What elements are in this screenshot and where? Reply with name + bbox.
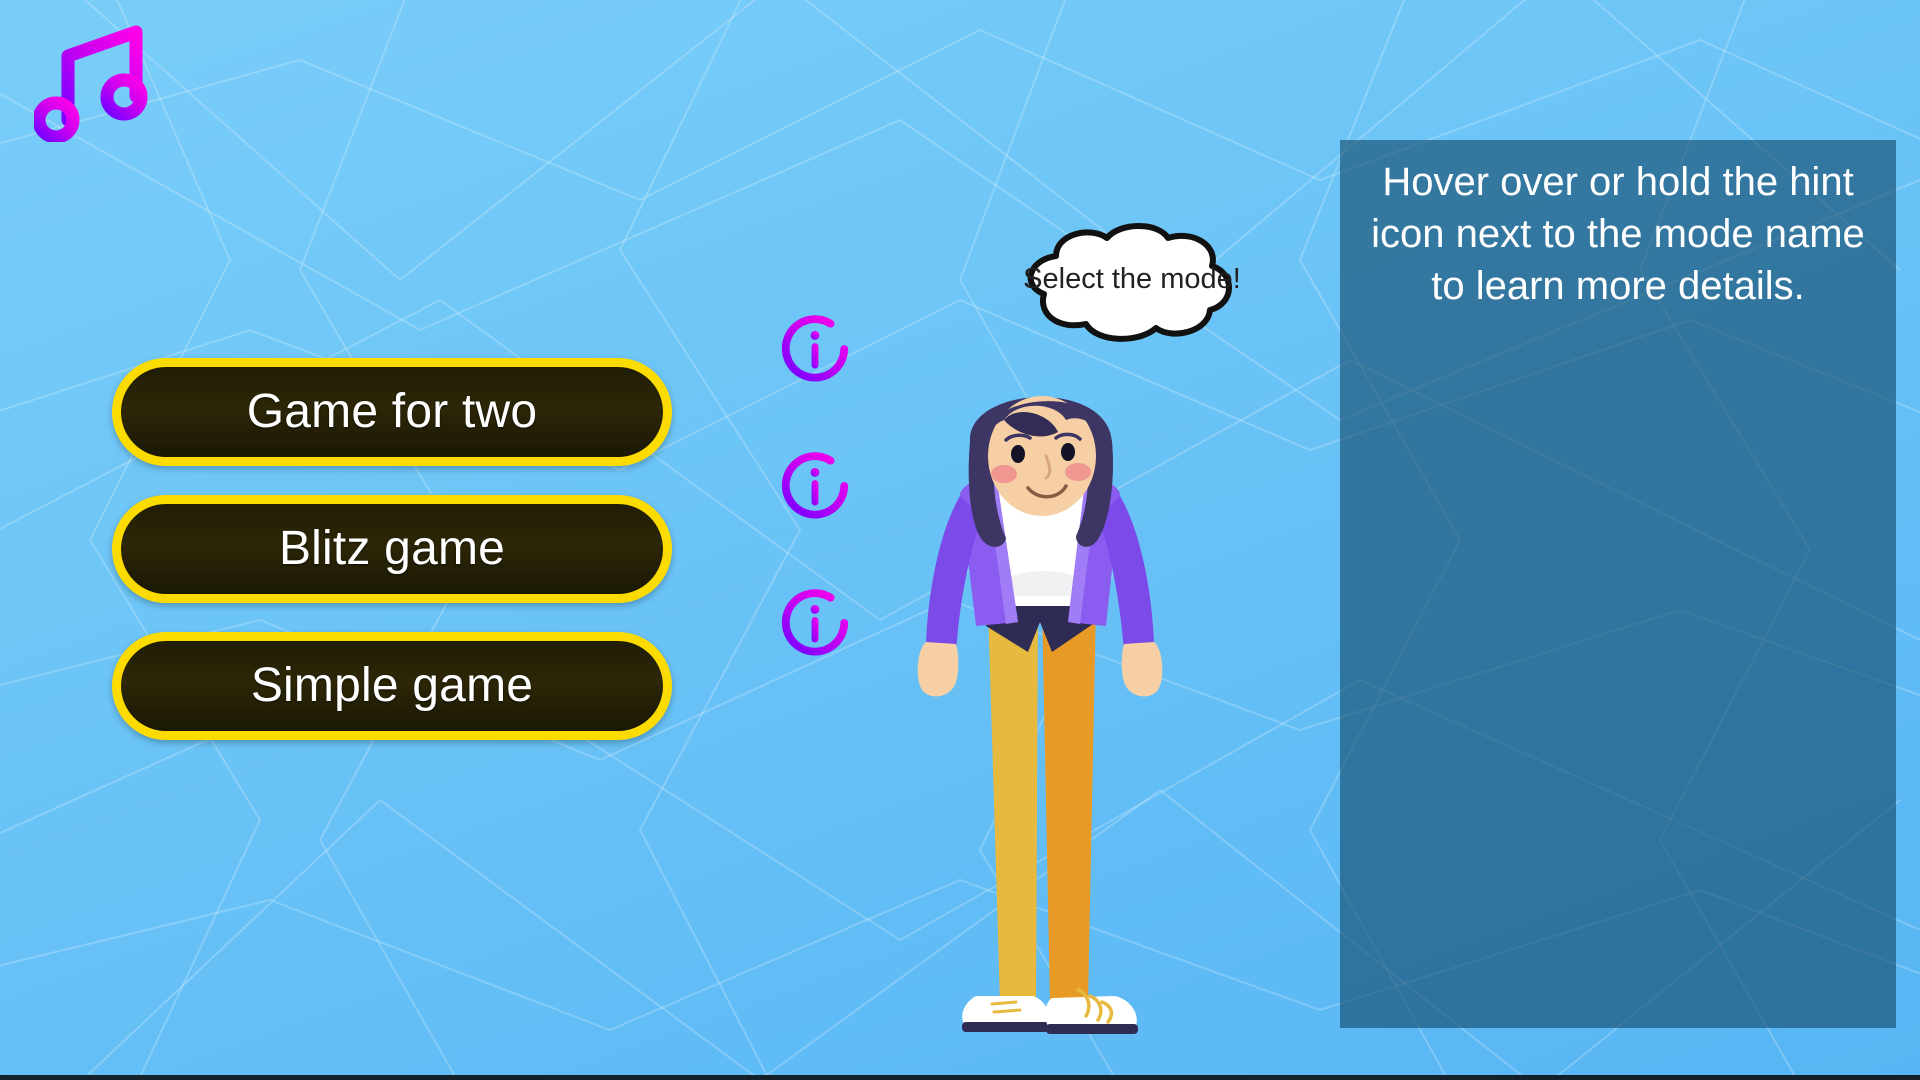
mode-button-label: Simple game (251, 662, 533, 710)
music-note-icon[interactable] (34, 20, 154, 142)
speech-bubble (1012, 222, 1252, 342)
mode-button-game-for-two[interactable]: Game for two (112, 358, 672, 466)
hint-panel: Hover over or hold the hint icon next to… (1340, 140, 1896, 1028)
hint-panel-text: Hover over or hold the hint icon next to… (1358, 156, 1878, 312)
mode-button-label: Blitz game (279, 525, 505, 573)
info-icon-game-for-two[interactable] (776, 310, 854, 388)
mode-row: Game for two (112, 358, 692, 466)
game-screen: Game for two Blitz game (0, 0, 1920, 1080)
mode-row: Simple game (112, 632, 692, 740)
info-icon-blitz-game[interactable] (776, 447, 854, 525)
mode-button-label: Game for two (247, 388, 538, 436)
character-avatar (900, 390, 1180, 1080)
mode-row: Blitz game (112, 495, 692, 603)
mode-button-blitz-game[interactable]: Blitz game (112, 495, 672, 603)
mode-button-simple-game[interactable]: Simple game (112, 632, 672, 740)
mode-button-list: Game for two Blitz game (112, 358, 692, 769)
info-icon-simple-game[interactable] (776, 584, 854, 662)
bottom-strip (0, 1075, 1920, 1080)
